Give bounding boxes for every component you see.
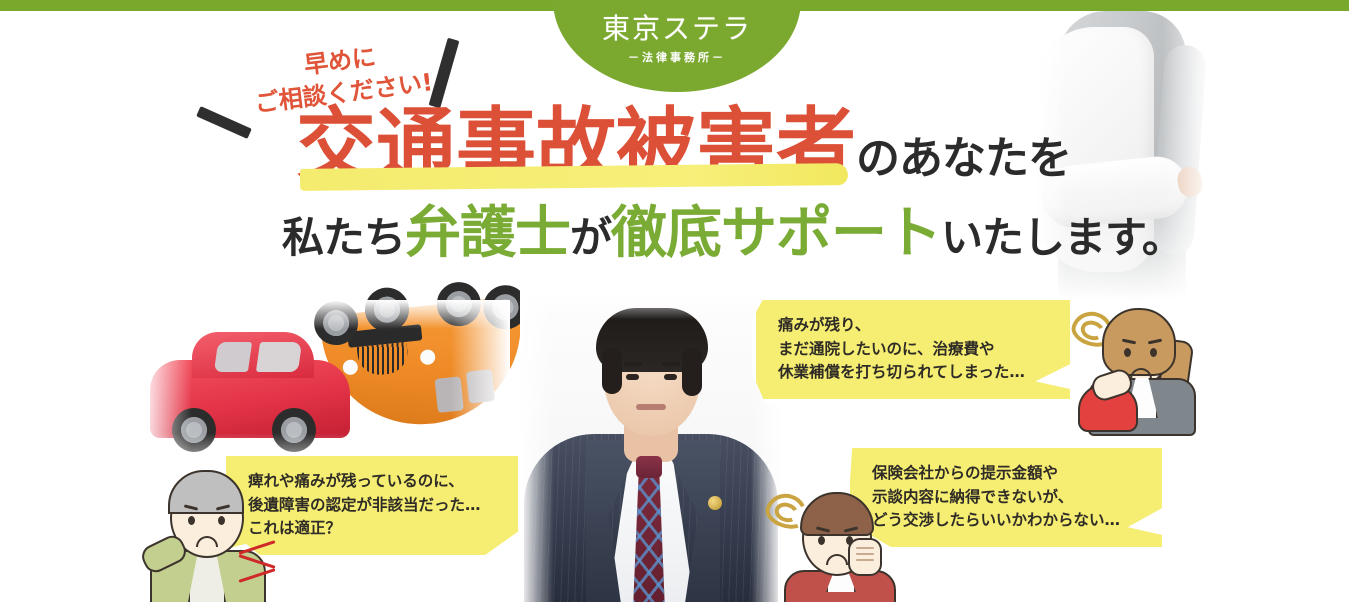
illustration-worried-man: [782, 492, 898, 602]
hero-banner: 東京ステラ －法律事務所－ 早めに ご相談ください! 交通事故被害者のあなたを …: [0, 0, 1349, 602]
woman-eye-left: [1124, 348, 1131, 357]
bubble-line: これは適正？: [248, 517, 498, 541]
bubble-line: 後遺障害の認定が非該当だった…: [248, 494, 498, 518]
speech-bubble-treatment-cutoff: 痛みが残り、 まだ通院したいのに、治療費や 休業補償を打ち切られてしまった…: [752, 296, 1074, 403]
logo-plaque[interactable]: 東京ステラ －法律事務所－: [553, 0, 801, 92]
headline-row2-a: 私たち: [282, 213, 405, 262]
man-hand-on-cheek: [848, 538, 882, 576]
headline-row2-green-2: 徹底サポート: [611, 201, 941, 266]
headline-row2-green-1: 弁護士: [405, 201, 570, 266]
photo-fade-overlay: [520, 288, 782, 602]
elder-eye-left: [188, 516, 195, 525]
photo-lawyer-portrait: [520, 288, 782, 602]
illustration-worried-woman: [1082, 306, 1202, 432]
bubble-line: 保険会社からの提示金額や: [872, 462, 1142, 486]
woman-hair: [1102, 308, 1176, 376]
man-hair: [800, 492, 874, 536]
elder-hair: [168, 470, 244, 514]
logo-name: 東京ステラ: [553, 14, 801, 45]
headline-row-2: 私たち弁護士が徹底サポートいたします。: [282, 206, 1183, 262]
bubble-line: 示談内容に納得できないが、: [872, 486, 1142, 510]
headline-row2-c: いたします。: [941, 213, 1183, 262]
woman-eye-right: [1150, 348, 1157, 357]
pain-zigzag-icon: [238, 544, 278, 592]
headline-tail: のあなたを: [856, 133, 1071, 184]
bubble-line: まだ通院したいのに、治療費や: [778, 338, 1050, 362]
bubble-line: どう交渉したらいいかわからない…: [872, 509, 1142, 533]
bubble-line: 痛みが残り、: [778, 314, 1050, 338]
illustration-elderly-man: [144, 466, 276, 602]
man-eye-left: [818, 536, 825, 545]
headline-row2-b: が: [570, 213, 611, 262]
bubble-line: 休業補償を打ち切られてしまった…: [778, 361, 1050, 385]
elder-eye-right: [218, 516, 225, 525]
logo-subtitle: －法律事務所－: [553, 49, 801, 65]
bubble-line: 痺れや痛みが残っているのに、: [248, 470, 498, 494]
